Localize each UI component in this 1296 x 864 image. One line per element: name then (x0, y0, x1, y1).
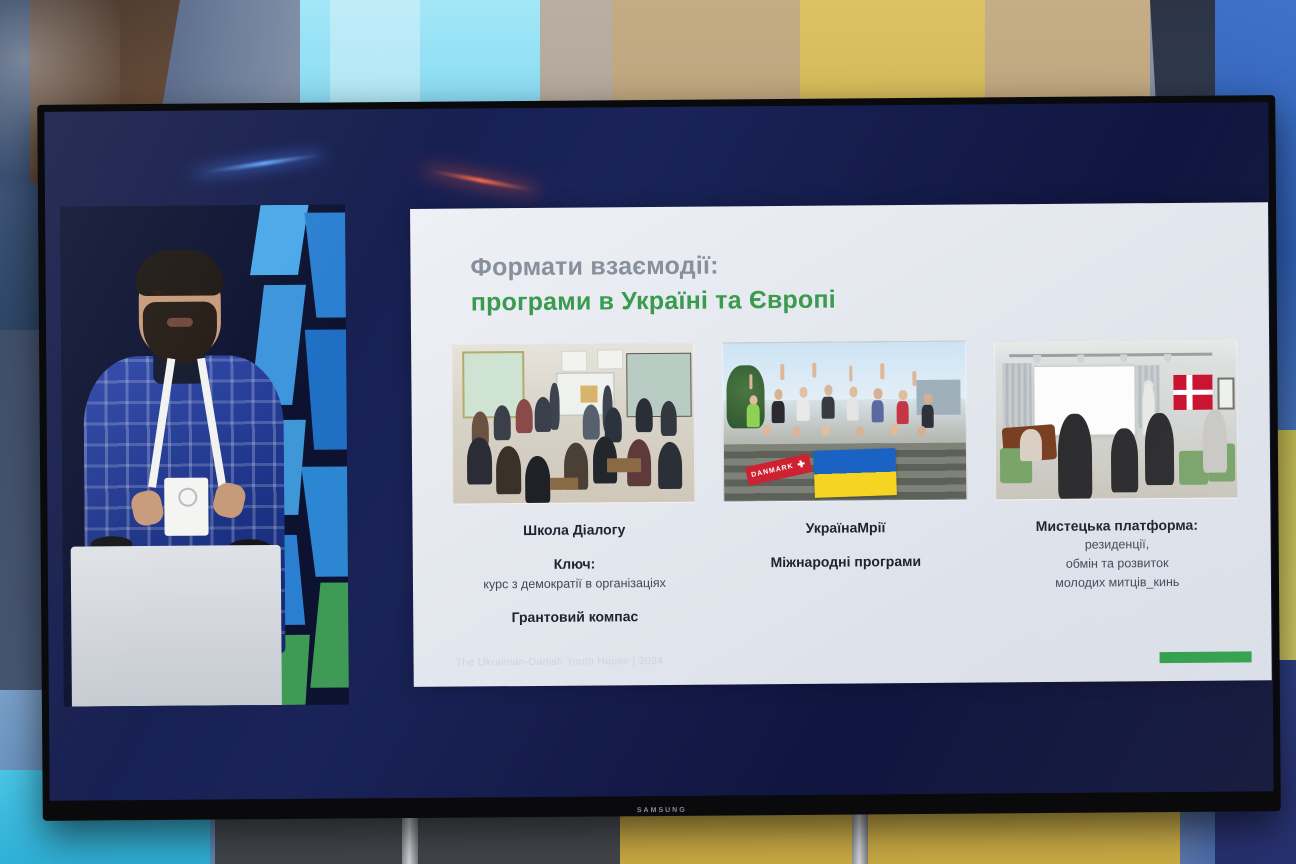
tv-screen: Формати взаємодії: програми в Україні та… (44, 102, 1273, 801)
column-heading: УкраїнаМрії (770, 517, 921, 538)
person-head (924, 394, 932, 404)
accent-bar (1160, 651, 1252, 663)
person (496, 446, 520, 494)
audience-member (1145, 413, 1175, 486)
caption-spacer (483, 539, 666, 554)
speaker-hair (135, 249, 223, 296)
caption-spacer (770, 537, 921, 552)
badge-icon (164, 478, 208, 536)
person (660, 401, 677, 436)
slide-footer: The Ukrainian-Danish Youth House | 2024 (456, 655, 664, 669)
audience-member (1203, 409, 1228, 472)
chair (607, 458, 641, 472)
danish-flag-icon (1174, 374, 1213, 409)
television: Формати взаємодії: програми в Україні та… (37, 95, 1281, 821)
slide-title-line2: програми в Україні та Європі (471, 286, 836, 318)
person (583, 404, 600, 439)
raised-arm (781, 364, 785, 379)
person (467, 437, 491, 485)
slide-content-panel: Формати взаємодії: програми в Україні та… (410, 202, 1272, 687)
program-columns: Школа Діалогу Ключ: курс з демократії в … (451, 338, 1239, 628)
person-head (890, 424, 898, 434)
person-head (793, 427, 801, 437)
presentation-room-photo (994, 338, 1239, 500)
light-streak-red-icon (425, 168, 536, 192)
person-torso (897, 401, 909, 424)
program-column: Школа Діалогу Ключ: курс з демократії в … (451, 343, 697, 629)
person-head (824, 385, 832, 395)
ceiling-lamp-icon (1164, 354, 1171, 362)
ceiling-lamp-icon (1077, 355, 1084, 363)
column-subheading: резиденції, (1036, 535, 1198, 555)
presentation-slide: Формати взаємодії: програми в Україні та… (44, 102, 1273, 801)
person (494, 405, 511, 440)
light-streak-blue-icon (195, 153, 322, 176)
speaker-video-feed (60, 204, 349, 706)
speaker-mouth (167, 318, 193, 327)
person-head (774, 389, 782, 399)
column-caption: Школа Діалогу Ключ: курс з демократії в … (483, 519, 666, 628)
person-head (917, 426, 925, 436)
raised-arm (812, 362, 816, 377)
raised-arm (749, 374, 753, 389)
person-head (899, 390, 907, 400)
audience-member (1111, 429, 1138, 492)
tv-stand-leg-right (852, 812, 868, 864)
framed-picture (580, 386, 597, 404)
person (535, 397, 552, 432)
slide-title: Формати взаємодії: програми в Україні та… (470, 251, 836, 318)
column-caption: Мистецька платформа: резиденції, обмін т… (1036, 515, 1199, 593)
column-extra-heading: Грантовий компас (484, 606, 667, 628)
workshop-circle-photo (451, 343, 696, 505)
podium (71, 545, 282, 707)
person-head (822, 425, 830, 435)
person-torso (797, 398, 809, 421)
speaker-eye (192, 290, 201, 295)
person-torso (772, 401, 784, 424)
danish-cross-icon: ✚ (796, 458, 807, 471)
raised-arm (881, 364, 885, 379)
slide-title-line1: Формати взаємодії: (470, 251, 835, 283)
person-head (874, 388, 882, 398)
person-torso (872, 400, 884, 423)
column-subheading: Міжнародні програми (771, 551, 922, 572)
person-head (799, 387, 807, 397)
column-extra-heading: молодих митців_кинь (1036, 573, 1198, 593)
person-head (856, 426, 864, 436)
speaker-eye (154, 290, 163, 295)
program-column: DANMARK ✚ УкраїнаМрії Міжнародні програм… (722, 341, 968, 627)
caption-spacer (483, 592, 666, 607)
person-head (849, 387, 857, 397)
person-torso (747, 404, 759, 427)
chair (550, 477, 579, 490)
wall-poster (597, 349, 624, 370)
audience-member (1020, 429, 1042, 461)
column-caption: УкраїнаМрії Міжнародні програми (770, 517, 921, 573)
audience-member (1058, 413, 1092, 499)
raised-arm (912, 371, 916, 386)
person (515, 399, 532, 434)
person-torso (922, 405, 934, 428)
tv-stand-leg-left (402, 812, 418, 864)
column-heading: Школа Діалогу (483, 519, 666, 541)
framed-artwork (1217, 377, 1234, 409)
person-head (763, 425, 771, 435)
program-column: Мистецька платформа: резиденції, обмін т… (994, 338, 1240, 624)
wall-poster (561, 351, 588, 372)
person-torso (847, 398, 859, 421)
column-heading: Мистецька платформа: (1036, 515, 1198, 537)
column-subtext: курс з демократії в організаціях (483, 574, 666, 594)
banner-text: DANMARK (751, 463, 795, 479)
column-subheading: Ключ: (483, 553, 666, 575)
ukrainian-flag-icon (813, 449, 897, 499)
tv-brand-logo: SAMSUNG (637, 807, 687, 814)
ceiling-lamp-icon (1033, 355, 1040, 363)
group-with-ukrainian-flag-photo: DANMARK ✚ (722, 341, 967, 503)
column-subtext: обмін та розвиток (1036, 554, 1198, 574)
person (525, 455, 549, 503)
raised-arm (849, 366, 853, 381)
person (658, 442, 682, 490)
person-torso (822, 396, 834, 419)
